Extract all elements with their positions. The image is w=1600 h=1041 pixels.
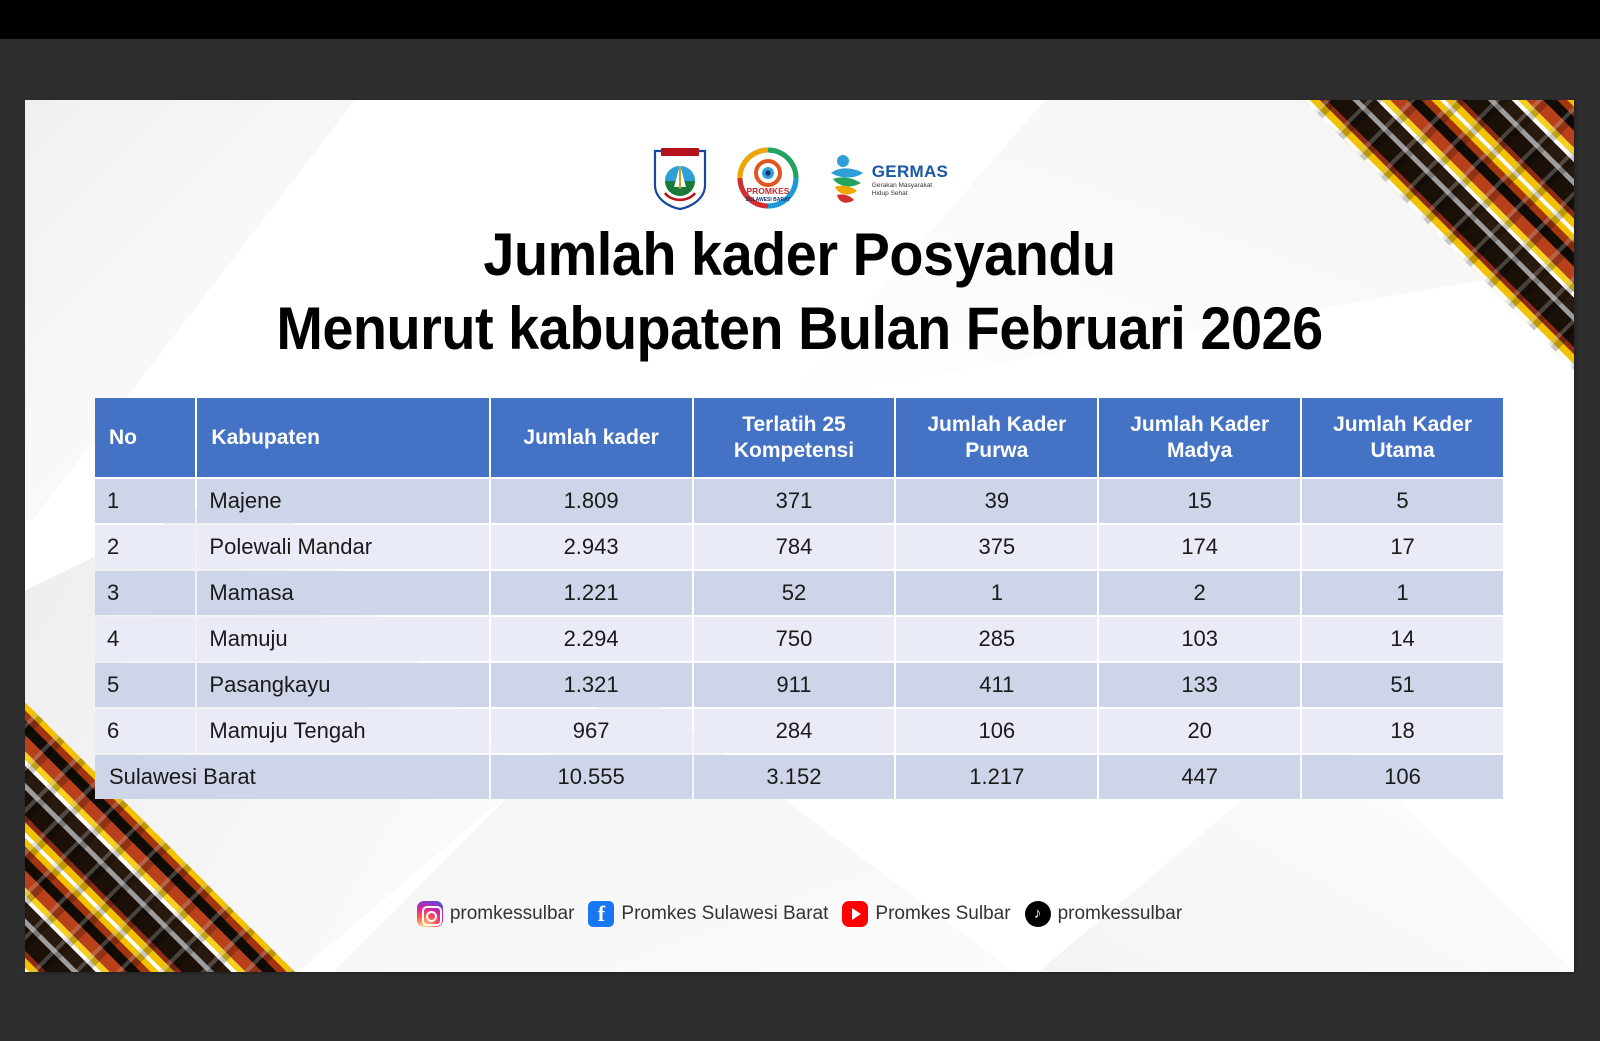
row-cell-jumlah-kader: 1.321 (491, 663, 692, 707)
table-body: 1Majene1.809371391552Polewali Mandar2.94… (95, 479, 1503, 799)
row-cell-madya: 174 (1099, 525, 1300, 569)
top-letterbox-bar (0, 0, 1600, 39)
row-cell-utama: 14 (1302, 617, 1503, 661)
column-header-utama-line2: Utama (1370, 439, 1434, 462)
svg-text:PROMKES: PROMKES (746, 186, 789, 196)
youtube-icon[interactable] (842, 901, 868, 927)
row-cell-kabupaten: Polewali Mandar (197, 525, 488, 569)
row-cell-no: 1 (95, 479, 195, 523)
row-cell-purwa: 106 (896, 709, 1097, 753)
row-cell-purwa: 375 (896, 525, 1097, 569)
row-cell-utama: 18 (1302, 709, 1503, 753)
row-cell-terlatih: 52 (694, 571, 895, 615)
row-cell-no: 6 (95, 709, 195, 753)
total-utama: 106 (1302, 755, 1503, 799)
row-cell-jumlah-kader: 2.294 (491, 617, 692, 661)
column-header-no: No (95, 398, 195, 477)
column-header-madya-line1: Jumlah Kader (1130, 413, 1269, 436)
sulawesi-barat-emblem-icon (651, 145, 709, 216)
social-handle: promkessulbar (450, 903, 575, 925)
social-item[interactable]: promkessulbar (417, 901, 575, 927)
row-cell-terlatih: 911 (694, 663, 895, 707)
germas-title: GERMAS (872, 163, 948, 180)
row-cell-terlatih: 784 (694, 525, 895, 569)
row-cell-no: 4 (95, 617, 195, 661)
total-jumlah-kader: 10.555 (491, 755, 692, 799)
germas-subtitle: Gerakan Masyarakat Hidup Sehat (872, 182, 948, 198)
row-cell-kabupaten: Pasangkayu (197, 663, 488, 707)
row-cell-kabupaten: Mamuju (197, 617, 488, 661)
social-item[interactable]: fPromkes Sulawesi Barat (588, 901, 828, 927)
row-cell-jumlah-kader: 2.943 (491, 525, 692, 569)
total-terlatih: 3.152 (694, 755, 895, 799)
column-header-purwa-line2: Purwa (965, 439, 1028, 462)
kader-posyandu-table: No Kabupaten Jumlah kader Terlatih 25 Ko… (93, 396, 1505, 801)
logo-strip: PROMKES SULAWESI BARAT GERMAS Gerakan Ma… (25, 145, 1574, 216)
row-cell-jumlah-kader: 1.221 (491, 571, 692, 615)
row-cell-jumlah-kader: 1.809 (491, 479, 692, 523)
social-item[interactable]: ♪promkessulbar (1025, 901, 1183, 927)
row-cell-utama: 51 (1302, 663, 1503, 707)
page-title-line-1: Jumlah kader Posyandu (79, 218, 1520, 292)
row-cell-jumlah-kader: 967 (491, 709, 692, 753)
facebook-icon[interactable]: f (588, 901, 614, 927)
social-handle: Promkes Sulbar (875, 903, 1010, 925)
screen: PROMKES SULAWESI BARAT GERMAS Gerakan Ma… (0, 0, 1600, 1041)
row-cell-kabupaten: Mamasa (197, 571, 488, 615)
column-header-terlatih-line2: Kompetensi (734, 439, 854, 462)
row-cell-madya: 2 (1099, 571, 1300, 615)
table-row: 1Majene1.80937139155 (95, 479, 1503, 523)
table: No Kabupaten Jumlah kader Terlatih 25 Ko… (93, 396, 1505, 801)
social-media-footer: promkessulbarfPromkes Sulawesi BaratProm… (25, 901, 1574, 927)
table-row: 2Polewali Mandar2.94378437517417 (95, 525, 1503, 569)
column-header-utama-line1: Jumlah Kader (1333, 413, 1472, 436)
instagram-icon[interactable] (417, 901, 443, 927)
social-handle: promkessulbar (1058, 903, 1183, 925)
row-cell-kabupaten: Mamuju Tengah (197, 709, 488, 753)
page-title: Jumlah kader Posyandu Menurut kabupaten … (79, 218, 1520, 366)
row-cell-madya: 20 (1099, 709, 1300, 753)
slide-canvas: PROMKES SULAWESI BARAT GERMAS Gerakan Ma… (25, 100, 1574, 972)
table-row: 4Mamuju2.29475028510314 (95, 617, 1503, 661)
column-header-utama: Jumlah Kader Utama (1302, 398, 1503, 477)
germas-subtitle-line2: Hidup Sehat (872, 190, 908, 197)
total-row-label: Sulawesi Barat (95, 755, 489, 799)
table-header-row: No Kabupaten Jumlah kader Terlatih 25 Ko… (95, 398, 1503, 477)
row-cell-utama: 1 (1302, 571, 1503, 615)
column-header-madya: Jumlah Kader Madya (1099, 398, 1300, 477)
germas-text-block: GERMAS Gerakan Masyarakat Hidup Sehat (872, 163, 948, 198)
column-header-terlatih: Terlatih 25 Kompetensi (694, 398, 895, 477)
row-cell-madya: 103 (1099, 617, 1300, 661)
total-madya: 447 (1099, 755, 1300, 799)
row-cell-madya: 15 (1099, 479, 1300, 523)
row-cell-no: 5 (95, 663, 195, 707)
row-cell-no: 2 (95, 525, 195, 569)
table-header: No Kabupaten Jumlah kader Terlatih 25 Ko… (95, 398, 1503, 477)
social-item[interactable]: Promkes Sulbar (842, 901, 1010, 927)
column-header-purwa: Jumlah Kader Purwa (896, 398, 1097, 477)
row-cell-terlatih: 371 (694, 479, 895, 523)
promkes-ciola-logo-icon: PROMKES SULAWESI BARAT (731, 147, 805, 214)
germas-figure-icon (827, 153, 867, 209)
social-handle: Promkes Sulawesi Barat (621, 903, 828, 925)
germas-subtitle-line1: Gerakan Masyarakat (872, 182, 932, 189)
row-cell-purwa: 411 (896, 663, 1097, 707)
column-header-terlatih-line1: Terlatih 25 (742, 413, 845, 436)
row-cell-purwa: 39 (896, 479, 1097, 523)
total-purwa: 1.217 (896, 755, 1097, 799)
tiktok-icon[interactable]: ♪ (1025, 901, 1051, 927)
row-cell-madya: 133 (1099, 663, 1300, 707)
row-cell-utama: 17 (1302, 525, 1503, 569)
row-cell-terlatih: 284 (694, 709, 895, 753)
svg-text:SULAWESI BARAT: SULAWESI BARAT (745, 197, 790, 203)
table-row: 5Pasangkayu1.32191141113351 (95, 663, 1503, 707)
table-row: 3Mamasa1.22152121 (95, 571, 1503, 615)
row-cell-terlatih: 750 (694, 617, 895, 661)
row-cell-purwa: 1 (896, 571, 1097, 615)
germas-logo: GERMAS Gerakan Masyarakat Hidup Sehat (827, 153, 948, 209)
column-header-purwa-line1: Jumlah Kader (927, 413, 1066, 436)
table-row: 6Mamuju Tengah9672841062018 (95, 709, 1503, 753)
row-cell-utama: 5 (1302, 479, 1503, 523)
column-header-madya-line2: Madya (1167, 439, 1232, 462)
row-cell-purwa: 285 (896, 617, 1097, 661)
column-header-kabupaten: Kabupaten (197, 398, 488, 477)
page-title-line-2: Menurut kabupaten Bulan Februari 2026 (79, 292, 1520, 366)
row-cell-no: 3 (95, 571, 195, 615)
table-total-row: Sulawesi Barat10.5553.1521.217447106 (95, 755, 1503, 799)
row-cell-kabupaten: Majene (197, 479, 488, 523)
column-header-jumlah-kader: Jumlah kader (491, 398, 692, 477)
